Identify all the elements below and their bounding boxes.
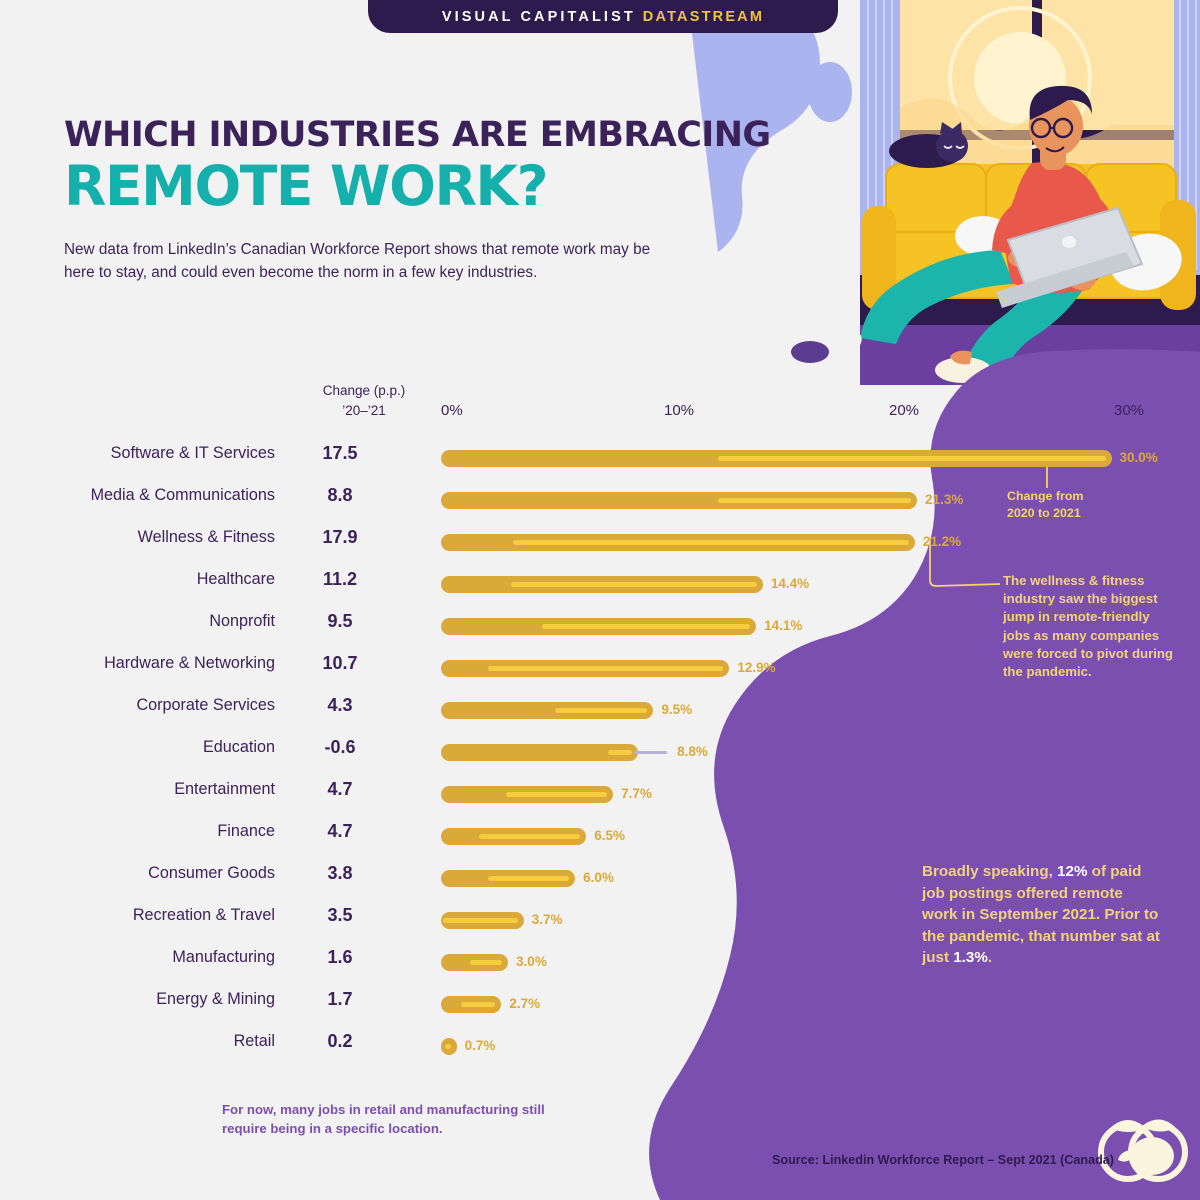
brand-name-secondary: DATASTREAM bbox=[643, 9, 764, 25]
bar-row: Finance4.76.5% bbox=[0, 816, 1200, 858]
bar-row: Education-0.68.8% bbox=[0, 732, 1200, 774]
change-column-header-line1: Change (p.p.) bbox=[299, 381, 429, 401]
x-tick-0: 0% bbox=[441, 402, 463, 419]
bar-category-label: Manufacturing bbox=[60, 948, 275, 967]
bar-change-value: 8.8 bbox=[300, 485, 380, 506]
callout-change-line1: Change from bbox=[1007, 488, 1127, 505]
bar-rows: Software & IT Services17.530.0%Media & C… bbox=[0, 438, 1200, 1068]
bar-change-value: 3.5 bbox=[300, 905, 380, 926]
callout-broad-prefix: Broadly speaking, bbox=[922, 863, 1057, 880]
bar-value-label: 30.0% bbox=[1120, 450, 1158, 465]
bar-change-value: 1.6 bbox=[300, 947, 380, 968]
bar-category-label: Corporate Services bbox=[60, 696, 275, 715]
brand-name-primary: VISUAL CAPITALIST bbox=[442, 9, 636, 25]
bar-track: 2.7% bbox=[441, 984, 1181, 1026]
change-column-header: Change (p.p.) ’20–’21 bbox=[299, 381, 429, 420]
bar-category-label: Nonprofit bbox=[60, 612, 275, 631]
bar-change-segment bbox=[443, 918, 517, 923]
bar-change-value: 17.9 bbox=[300, 527, 380, 548]
bar-change-segment bbox=[461, 1002, 495, 1007]
bar-change-value: 0.2 bbox=[300, 1031, 380, 1052]
bar-category-label: Software & IT Services bbox=[60, 444, 275, 463]
x-tick-10: 10% bbox=[664, 402, 694, 419]
bar-change-segment bbox=[608, 750, 632, 755]
bar-change-value: 4.7 bbox=[300, 779, 380, 800]
bar-negative-segment bbox=[634, 751, 667, 754]
bar-change-segment bbox=[488, 666, 723, 671]
bar-change-segment bbox=[718, 456, 1105, 461]
bar-value-label: 14.1% bbox=[764, 618, 802, 633]
bar-change-segment bbox=[555, 708, 647, 713]
bar-track: 6.5% bbox=[441, 816, 1181, 858]
bar-value-label: 7.7% bbox=[621, 786, 652, 801]
bar-track: 30.0% bbox=[441, 438, 1181, 480]
bar-change-value: 1.7 bbox=[300, 989, 380, 1010]
callout-broad-stat-12: 12% bbox=[1057, 863, 1087, 880]
bar-row: Software & IT Services17.530.0% bbox=[0, 438, 1200, 480]
page-title-line1: WHICH INDUSTRIES ARE EMBRACING bbox=[64, 118, 784, 153]
bar-value-label: 3.0% bbox=[516, 954, 547, 969]
bar-track: 21.2% bbox=[441, 522, 1181, 564]
bar-change-value: 4.7 bbox=[300, 821, 380, 842]
bar-category-label: Consumer Goods bbox=[60, 864, 275, 883]
bar-value-label: 2.7% bbox=[509, 996, 540, 1011]
bar-change-value: 4.3 bbox=[300, 695, 380, 716]
bar-category-label: Retail bbox=[60, 1032, 275, 1051]
bar-category-label: Recreation & Travel bbox=[60, 906, 275, 925]
callout-broad-stat: Broadly speaking, 12% of paid job postin… bbox=[922, 861, 1162, 969]
page-title-line2: REMOTE WORK? bbox=[64, 158, 784, 216]
bar-change-segment bbox=[511, 582, 757, 587]
bar-category-label: Hardware & Networking bbox=[60, 654, 275, 673]
callout-change-marker: Change from 2020 to 2021 bbox=[1007, 488, 1127, 521]
bar-category-label: Finance bbox=[60, 822, 275, 841]
bar-row: Energy & Mining1.72.7% bbox=[0, 984, 1200, 1026]
bar-row: Entertainment4.77.7% bbox=[0, 774, 1200, 816]
bar-change-segment bbox=[445, 1044, 451, 1049]
bar-value-label: 21.3% bbox=[925, 492, 963, 507]
bar-row: Wellness & Fitness17.921.2% bbox=[0, 522, 1200, 564]
bar-category-label: Media & Communications bbox=[60, 486, 275, 505]
bar-category-label: Education bbox=[60, 738, 275, 757]
bar-change-value: 17.5 bbox=[300, 443, 380, 464]
page-subtitle: New data from LinkedIn’s Canadian Workfo… bbox=[64, 238, 679, 285]
bar-change-segment bbox=[542, 624, 750, 629]
bar-change-segment bbox=[488, 876, 569, 881]
bar-value-label: 6.5% bbox=[594, 828, 625, 843]
bar-category-label: Energy & Mining bbox=[60, 990, 275, 1009]
bar-change-value: 9.5 bbox=[300, 611, 380, 632]
callout-broad-stat-13: 1.3% bbox=[953, 949, 988, 966]
bar-change-value: 3.8 bbox=[300, 863, 380, 884]
bar-value-label: 21.2% bbox=[923, 534, 961, 549]
bar-change-segment bbox=[506, 792, 607, 797]
bar-value-label: 12.9% bbox=[737, 660, 775, 675]
brand-header-bar: VISUAL CAPITALIST DATASTREAM bbox=[368, 0, 838, 33]
bar-category-label: Wellness & Fitness bbox=[60, 528, 275, 547]
bar-value-label: 8.8% bbox=[677, 744, 708, 759]
bar-value-label: 9.5% bbox=[661, 702, 692, 717]
change-column-header-line2: ’20–’21 bbox=[299, 401, 429, 421]
bar-category-label: Healthcare bbox=[60, 570, 275, 589]
callout-education: Education was the one industry that expe… bbox=[718, 740, 838, 814]
bar-change-segment bbox=[513, 540, 909, 545]
bar-row: Retail0.20.7% bbox=[0, 1026, 1200, 1068]
bar-change-segment bbox=[470, 960, 502, 965]
bar-change-value: -0.6 bbox=[300, 737, 380, 758]
source-note: Source: Linkedin Workforce Report – Sept… bbox=[772, 1153, 1114, 1167]
bar-value-label: 14.4% bbox=[771, 576, 809, 591]
bar-value-label: 0.7% bbox=[465, 1038, 496, 1053]
bar-track: 0.7% bbox=[441, 1026, 1181, 1068]
bar-change-value: 11.2 bbox=[300, 569, 380, 590]
callout-change-line2: 2020 to 2021 bbox=[1007, 505, 1127, 522]
callout-footnote: For now, many jobs in retail and manufac… bbox=[222, 1101, 552, 1138]
title-block: WHICH INDUSTRIES ARE EMBRACING REMOTE WO… bbox=[64, 118, 784, 285]
bar-value-label: 3.7% bbox=[532, 912, 563, 927]
bar-change-segment bbox=[479, 834, 580, 839]
bar-change-value: 10.7 bbox=[300, 653, 380, 674]
x-tick-30: 30% bbox=[1114, 402, 1144, 419]
bar-value-label: 6.0% bbox=[583, 870, 614, 885]
bar-track: 9.5% bbox=[441, 690, 1181, 732]
callout-wellness: The wellness & fitness industry saw the … bbox=[1003, 572, 1175, 681]
callout-broad-suffix: . bbox=[988, 949, 992, 966]
bar-row: Corporate Services4.39.5% bbox=[0, 690, 1200, 732]
bar-change-segment bbox=[718, 498, 911, 503]
infographic-canvas: VISUAL CAPITALIST DATASTREAM WHICH INDUS… bbox=[0, 0, 1200, 1200]
bar-category-label: Entertainment bbox=[60, 780, 275, 799]
x-tick-20: 20% bbox=[889, 402, 919, 419]
